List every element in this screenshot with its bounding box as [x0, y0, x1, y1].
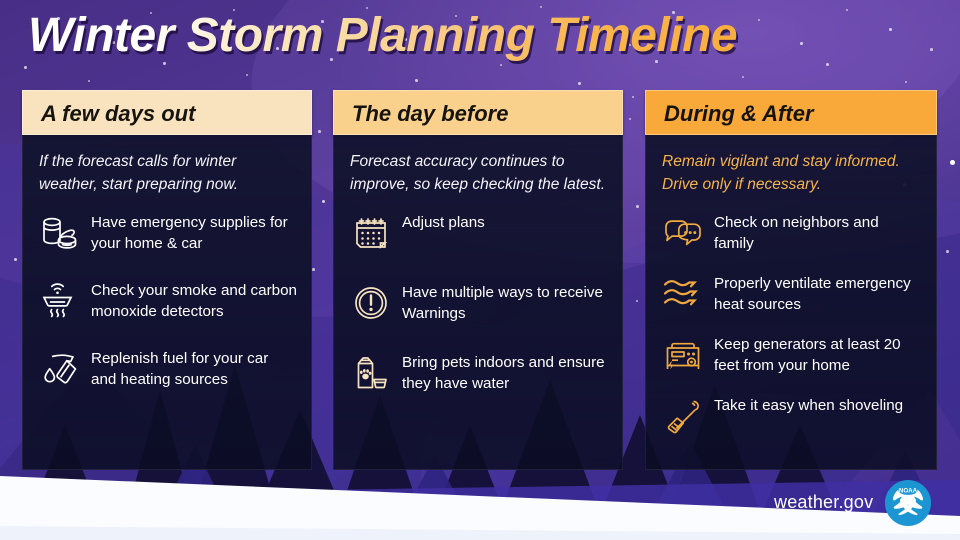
star [415, 79, 418, 82]
list-item: Bring pets indoors and ensure they have … [348, 351, 608, 395]
list-item-text: Take it easy when shoveling [714, 394, 903, 417]
list-item-text: Replenish fuel for your car and heating … [91, 347, 297, 391]
speech-bubbles-icon [660, 211, 706, 255]
canned-food-icon [37, 211, 83, 255]
star [578, 82, 581, 85]
list-item-text: Adjust plans [402, 211, 485, 234]
list-item: Have emergency supplies for your home & … [37, 211, 297, 255]
column-3-body: Remain vigilant and stay informed. Drive… [645, 135, 937, 470]
airflow-arrows-icon [660, 272, 706, 316]
column-3-header: During & After [645, 90, 937, 135]
list-item-text: Check on neighbors and family [714, 211, 922, 255]
noaa-logo-text: NOAA [899, 487, 918, 494]
weather-gov-label[interactable]: weather.gov [774, 492, 873, 513]
list-item: Check on neighbors and family [660, 211, 922, 255]
list-item-text: Have multiple ways to receive Warnings [402, 281, 608, 325]
snow-shovel-icon [660, 394, 706, 438]
column-the-day-before: The day before Forecast accuracy continu… [333, 90, 623, 470]
list-item-text: Properly ventilate emergency heat source… [714, 272, 922, 316]
column-1-intro: If the forecast calls for winter weather… [39, 151, 295, 197]
star [930, 48, 933, 51]
column-during-and-after: During & After Remain vigilant and stay … [645, 90, 937, 470]
list-item-text: Have emergency supplies for your home & … [91, 211, 297, 255]
column-2-intro: Forecast accuracy continues to improve, … [350, 151, 606, 197]
star [318, 130, 321, 133]
page-title: Winter Storm Planning Timeline [28, 8, 737, 63]
column-1-body: If the forecast calls for winter weather… [22, 135, 312, 470]
list-item: Replenish fuel for your car and heating … [37, 347, 297, 391]
column-1-items: Have emergency supplies for your home & … [37, 211, 297, 391]
star [826, 63, 829, 66]
star [24, 66, 27, 69]
list-item: Check your smoke and carbon monoxide det… [37, 279, 297, 323]
list-item: Properly ventilate emergency heat source… [660, 272, 922, 316]
generator-icon [660, 333, 706, 377]
column-3-items: Check on neighbors and family Pro [660, 211, 922, 438]
star [800, 42, 803, 45]
noaa-seal-logo[interactable]: NOAA [884, 479, 932, 527]
list-item-text: Check your smoke and carbon monoxide det… [91, 279, 297, 323]
smoke-detector-icon [37, 279, 83, 323]
pet-food-icon [348, 351, 394, 395]
infographic-canvas: Winter Storm Planning Timeline A few day… [0, 0, 960, 540]
column-2-items: Adjust plans Have multiple ways to recei… [348, 211, 608, 395]
list-item: Take it easy when shoveling [660, 394, 922, 438]
column-2-body: Forecast accuracy continues to improve, … [333, 135, 623, 470]
calendar-icon [348, 211, 394, 255]
star [636, 205, 639, 208]
star [950, 160, 955, 165]
list-item-text: Bring pets indoors and ensure they have … [402, 351, 608, 395]
list-item: Keep generators at least 20 feet from yo… [660, 333, 922, 377]
list-item-text: Keep generators at least 20 feet from yo… [714, 333, 922, 377]
column-3-intro: Remain vigilant and stay informed. Drive… [662, 151, 920, 197]
list-item: Adjust plans [348, 211, 608, 255]
alert-exclamation-icon [348, 281, 394, 325]
list-item: Have multiple ways to receive Warnings [348, 281, 608, 325]
column-a-few-days-out: A few days out If the forecast calls for… [22, 90, 312, 470]
column-2-header: The day before [333, 90, 623, 135]
column-1-header: A few days out [22, 90, 312, 135]
fuel-pump-icon [37, 347, 83, 391]
